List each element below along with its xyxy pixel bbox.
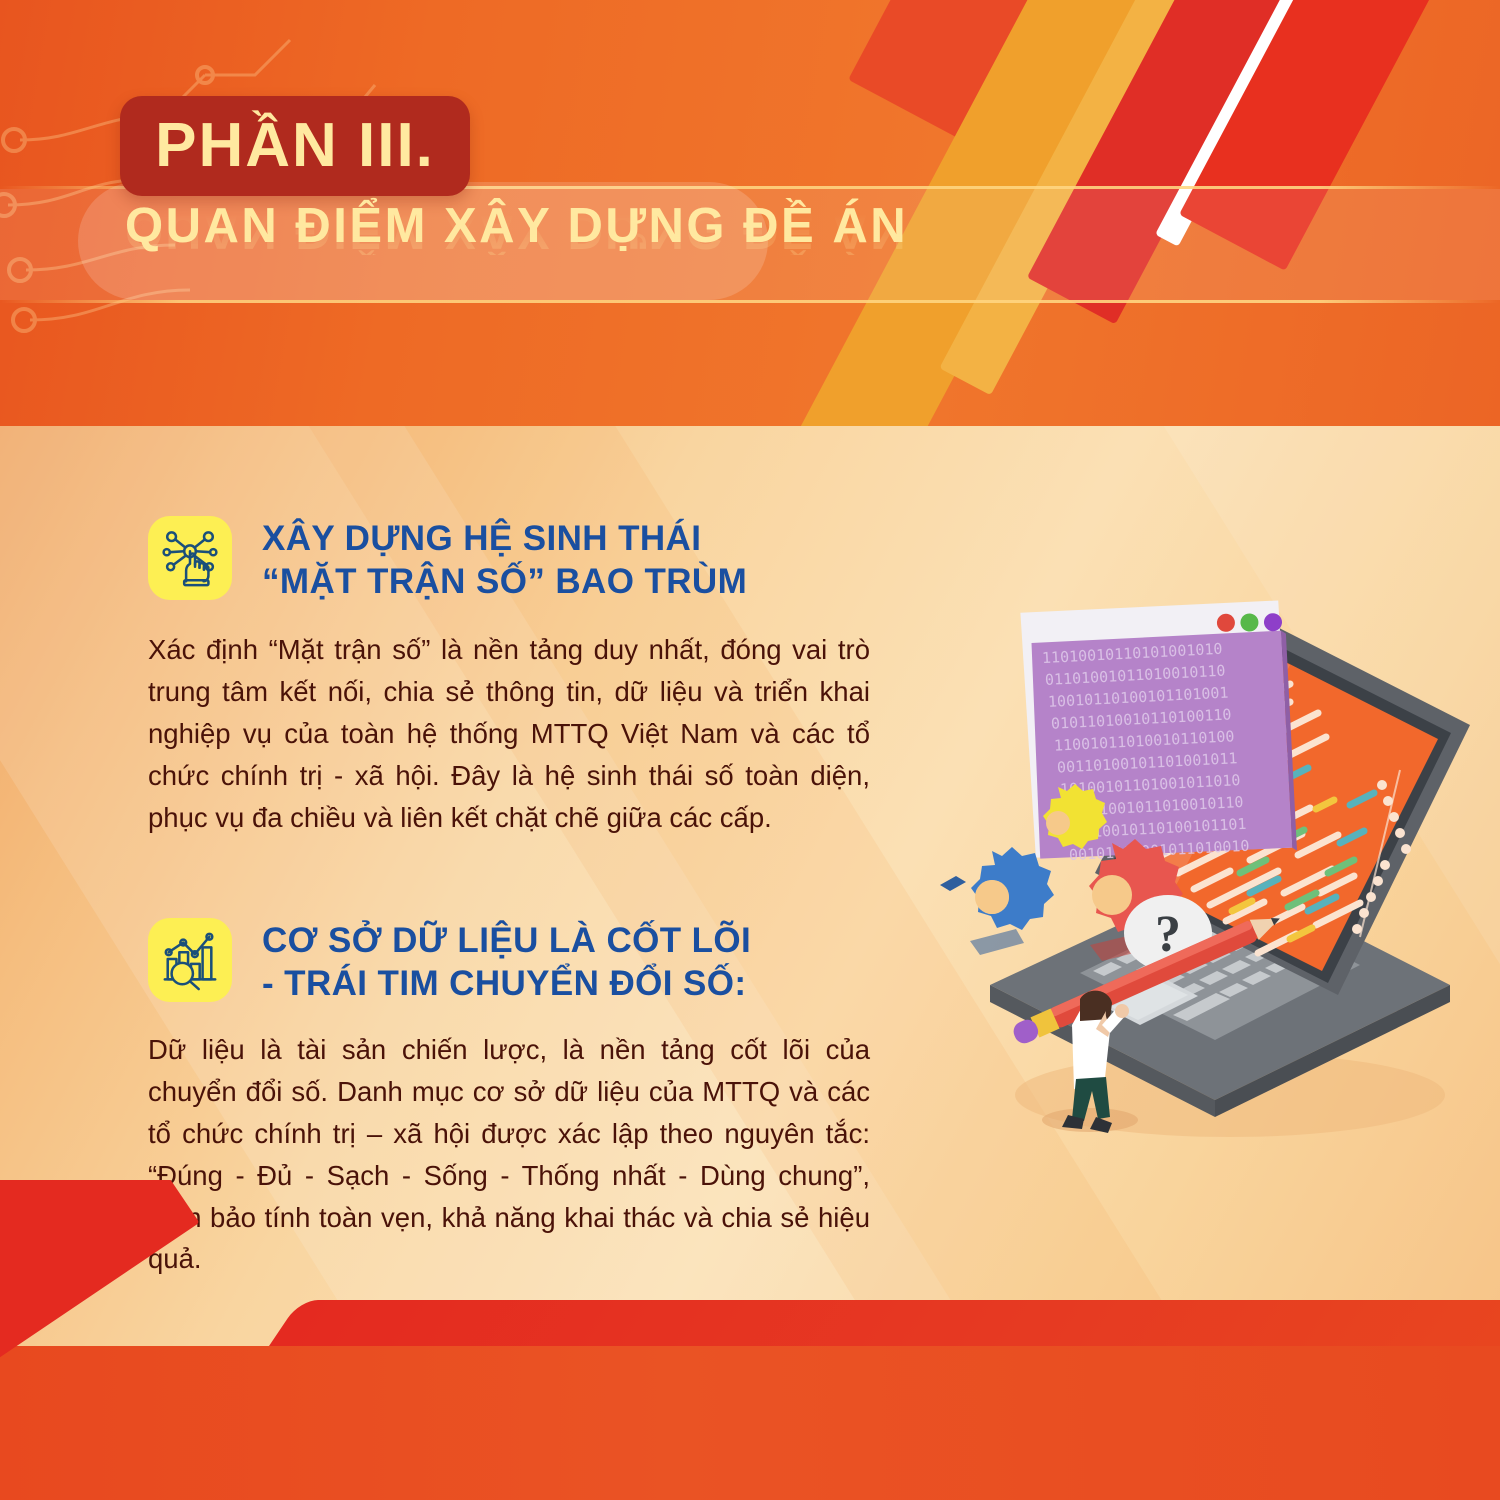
heading-line-2: “MẶT TRẬN SỐ” BAO TRÙM (262, 561, 747, 604)
section-database-header: CƠ SỞ DỮ LIỆU LÀ CỐT LÕI - TRÁI TIM CHUY… (148, 918, 888, 1005)
bottom-left-stripes (0, 1180, 560, 1500)
section-ecosystem: XÂY DỰNG HỆ SINH THÁI “MẶT TRẬN SỐ” BAO … (148, 516, 888, 838)
person-hair (1080, 991, 1112, 1021)
header-banner: PHẦN III. QUAN ĐIỂM XÂY DỰNG ĐỀ ÁN QUAN … (0, 0, 1500, 426)
part-badge: PHẦN III. (120, 96, 470, 196)
illustration-laptop-coding: 1 0 (930, 555, 1470, 1175)
illustration-svg: 1 0 (930, 555, 1470, 1175)
heading-line-2: - TRÁI TIM CHUYỂN ĐỔI SỐ: (262, 963, 751, 1006)
data-analytics-icon (148, 918, 232, 1002)
section-database-heading: CƠ SỞ DỮ LIỆU LÀ CỐT LÕI - TRÁI TIM CHUY… (262, 918, 751, 1005)
infographic-page: PHẦN III. QUAN ĐIỂM XÂY DỰNG ĐỀ ÁN QUAN … (0, 0, 1500, 1500)
heading-line-1: CƠ SỞ DỮ LIỆU LÀ CỐT LÕI (262, 920, 751, 963)
part-badge-label: PHẦN III. (155, 115, 435, 177)
header-subtitle-wrap: QUAN ĐIỂM XÂY DỰNG ĐỀ ÁN QUAN ĐIỂM XÂY D… (125, 202, 1225, 312)
page-title-reflection: QUAN ĐIỂM XÂY DỰNG ĐỀ ÁN (125, 206, 1225, 255)
bottom-stripe-red (0, 1180, 199, 1500)
section-ecosystem-body: Xác định “Mặt trận số” là nền tảng duy n… (148, 629, 870, 838)
gear-blue (940, 847, 1054, 930)
section-ecosystem-heading: XÂY DỰNG HỆ SINH THÁI “MẶT TRẬN SỐ” BAO … (262, 516, 747, 603)
section-ecosystem-header: XÂY DỰNG HỆ SINH THÁI “MẶT TRẬN SỐ” BAO … (148, 516, 888, 603)
network-touch-icon-glyph (159, 527, 221, 589)
heading-line-1: XÂY DỰNG HỆ SINH THÁI (262, 518, 747, 561)
data-analytics-icon-glyph (159, 929, 221, 991)
network-touch-icon (148, 516, 232, 600)
